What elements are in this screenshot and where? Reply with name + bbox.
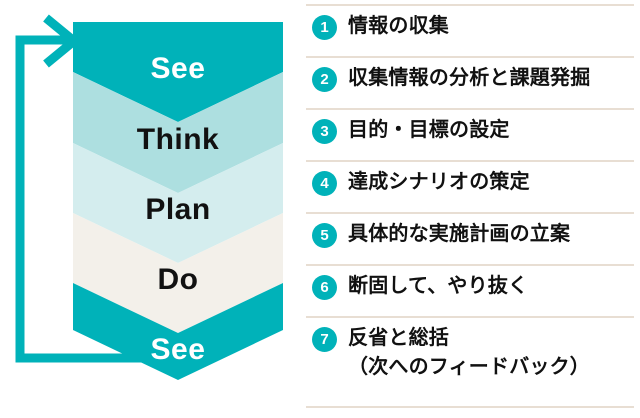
- step-text: 断固して、やり抜く: [348, 272, 634, 301]
- list-item[interactable]: 5 具体的な実施計画の立案: [306, 212, 634, 264]
- funnel-label-plan: Plan: [73, 195, 283, 225]
- list-item[interactable]: 3 目的・目標の設定: [306, 108, 634, 160]
- step-text: 収集情報の分析と課題発掘: [348, 64, 634, 93]
- step-text: 情報の収集: [348, 12, 634, 41]
- step-text-line1: 収集情報の分析と課題発掘: [348, 67, 590, 89]
- step-text-line1: 目的・目標の設定: [348, 119, 510, 141]
- step-text: 目的・目標の設定: [348, 116, 634, 145]
- funnel-label-think: Think: [73, 125, 283, 155]
- step-text-line1: 情報の収集: [348, 15, 449, 37]
- step-text: 反省と総括 （次へのフィードバック）: [348, 324, 634, 382]
- list-item[interactable]: 1 情報の収集: [306, 4, 634, 56]
- list-item[interactable]: 2 収集情報の分析と課題発掘: [306, 56, 634, 108]
- step-text: 達成シナリオの策定: [348, 168, 634, 197]
- funnel-label-see-bottom: See: [73, 335, 283, 365]
- step-number-badge: 7: [312, 327, 337, 352]
- step-number-badge: 3: [312, 119, 337, 144]
- step-number-badge: 2: [312, 67, 337, 92]
- funnel-label-do: Do: [73, 265, 283, 295]
- step-number-badge: 1: [312, 15, 337, 40]
- step-text-line1: 反省と総括: [348, 327, 449, 349]
- step-list: 1 情報の収集 2 収集情報の分析と課題発掘 3 目的・目標の設定 4 達成シナ…: [300, 0, 640, 418]
- infographic-root: See Think Plan Do See 1 情報の収集 2 収集情報の分析と…: [0, 0, 640, 418]
- step-text-line1: 達成シナリオの策定: [348, 171, 530, 193]
- list-item[interactable]: 4 達成シナリオの策定: [306, 160, 634, 212]
- step-text-line1: 具体的な実施計画の立案: [348, 223, 570, 245]
- step-text: 具体的な実施計画の立案: [348, 220, 634, 249]
- funnel-label-see-top: See: [73, 54, 283, 84]
- funnel-diagram: See Think Plan Do See: [0, 0, 300, 418]
- step-number-badge: 6: [312, 275, 337, 300]
- step-text-line2: （次へのフィードバック）: [348, 353, 634, 382]
- step-text-line1: 断固して、やり抜く: [348, 275, 528, 297]
- step-number-badge: 4: [312, 171, 337, 196]
- step-number-badge: 5: [312, 223, 337, 248]
- list-item[interactable]: 7 反省と総括 （次へのフィードバック）: [306, 316, 634, 408]
- list-item[interactable]: 6 断固して、やり抜く: [306, 264, 634, 316]
